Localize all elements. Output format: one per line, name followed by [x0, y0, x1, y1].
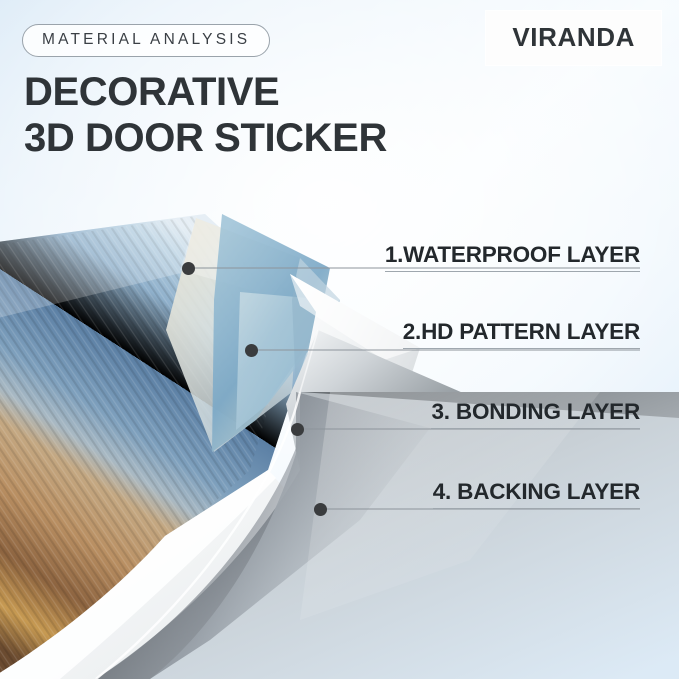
badge-label: MATERIAL ANALYSIS [42, 31, 250, 48]
callout-rule-1 [385, 271, 640, 272]
callout-dot-4 [314, 503, 327, 516]
callout-label-3: 3. BONDING LAYER [431, 400, 640, 424]
infographic-canvas: MATERIAL ANALYSIS DECORATIVE 3D DOOR STI… [0, 0, 679, 679]
callout-dot-1 [182, 262, 195, 275]
callout-backing-layer: 4. BACKING LAYER [433, 480, 640, 509]
title-line-1: DECORATIVE [24, 70, 279, 114]
material-analysis-badge: MATERIAL ANALYSIS [22, 24, 270, 57]
callout-label-4: 4. BACKING LAYER [433, 480, 640, 504]
brand-name: VIRANDA [512, 22, 635, 52]
page-title: DECORATIVE 3D DOOR STICKER [24, 70, 387, 161]
callout-waterproof-layer: 1.WATERPROOF LAYER [385, 243, 640, 272]
callout-dot-2 [245, 344, 258, 357]
brand-logo: VIRANDA [486, 11, 661, 65]
callout-hd-pattern-layer: 2.HD PATTERN LAYER [403, 320, 640, 349]
callout-rule-4 [433, 508, 640, 509]
callout-label-1: 1.WATERPROOF LAYER [385, 243, 640, 267]
callout-bonding-layer: 3. BONDING LAYER [431, 400, 640, 429]
callout-rule-2 [403, 348, 640, 349]
callout-rule-3 [431, 428, 640, 429]
callout-dot-3 [291, 423, 304, 436]
callout-label-2: 2.HD PATTERN LAYER [403, 320, 640, 344]
title-line-2: 3D DOOR STICKER [24, 116, 387, 162]
